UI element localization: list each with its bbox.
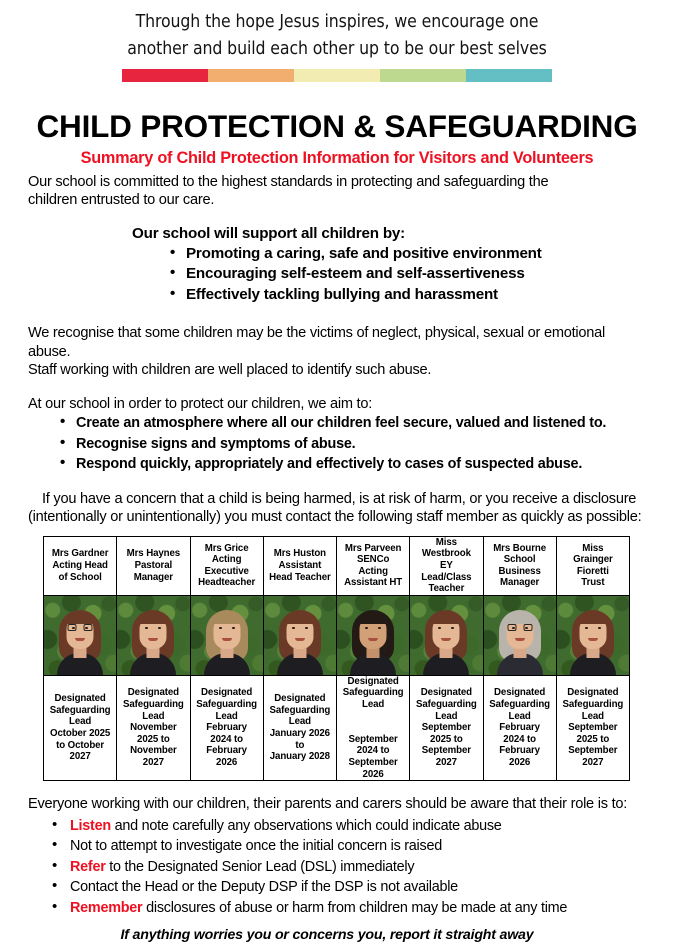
designation-line: February	[499, 745, 540, 756]
portrait-eye-left	[219, 627, 222, 629]
designation-line: September	[568, 722, 617, 733]
staff-photo-cell	[190, 595, 263, 675]
staff-portrait	[117, 596, 189, 675]
staff-name-line: Executive	[204, 566, 248, 577]
support-heading: Our school will support all children by:	[28, 224, 646, 244]
page-subtitle: Summary of Child Protection Information …	[0, 149, 674, 168]
staff-name-cell: Mrs BourneSchoolBusinessManager	[483, 536, 556, 595]
staff-name-cell: Mrs HustonAssistantHead Teacher	[263, 536, 336, 595]
designation-line: Safeguarding	[270, 705, 331, 716]
staff-designation-cell: DesignatedSafeguardingLeadSeptember2025 …	[410, 675, 483, 780]
color-bar-segment-2	[208, 69, 294, 82]
staff-name-line: EY	[440, 560, 453, 571]
portrait-mouth	[368, 638, 378, 641]
bullet-text: disclosures of abuse or harm from childr…	[142, 900, 567, 916]
designation-line: Designated	[494, 687, 545, 698]
staff-name-line: Mrs Parveen	[345, 543, 402, 554]
strapline-line-2: another and build each other up to be ou…	[0, 36, 674, 63]
concern-line-2: (intentionally or unintentionally) you m…	[28, 509, 641, 525]
spacer	[28, 380, 646, 390]
portrait-fringe	[358, 613, 389, 624]
staff-name-cell: Mrs ParveenSENCoActingAssistant HT	[337, 536, 410, 595]
staff-photo-cell	[410, 595, 483, 675]
designation-line: 2027	[436, 757, 457, 768]
spacer	[28, 305, 646, 319]
staff-name-line: Head Teacher	[269, 572, 331, 583]
designation-line: Safeguarding	[416, 699, 477, 710]
bullet-keyword: Refer	[70, 859, 106, 875]
portrait-eye-left	[292, 627, 295, 629]
designation-line: 2025 to	[577, 734, 610, 745]
staff-name-line: Acting Head	[52, 560, 107, 571]
list-item: Listen and note carefully any observatio…	[50, 816, 646, 837]
bullet-text: to the Designated Senior Lead (DSL) imme…	[106, 859, 415, 875]
glasses-icon	[507, 624, 532, 632]
designation-line: January 2028	[270, 751, 330, 762]
aims-heading: At our school in order to protect our ch…	[28, 395, 646, 414]
closing-statement: If anything worries you or concerns you,…	[28, 927, 646, 943]
staff-name-line: Westbrook	[422, 548, 471, 559]
designation-line: October 2025	[50, 728, 110, 739]
designation-line: September	[422, 745, 471, 756]
portrait-fringe	[138, 613, 169, 624]
staff-designation-cell: DesignatedSafeguardingLeadFebruary2024 t…	[190, 675, 263, 780]
staff-portrait	[484, 596, 556, 675]
staff-name-line: Teacher	[429, 583, 465, 594]
designation-line: Lead	[216, 711, 238, 722]
designation-line: 2027	[582, 757, 603, 768]
designation-line: Safeguarding	[489, 699, 550, 710]
staff-name-line: Pastoral	[135, 560, 172, 571]
staff-name-line: Miss	[582, 543, 603, 554]
table-row-names: Mrs GardnerActing Headof SchoolMrs Hayne…	[44, 536, 630, 595]
designation-line: February	[499, 722, 540, 733]
designation-line: 2026	[509, 757, 530, 768]
designation-line: Safeguarding	[50, 705, 111, 716]
staff-name-line: of School	[59, 572, 102, 583]
bullet-keyword: Listen	[70, 818, 111, 834]
designation-line: Designated	[348, 676, 399, 687]
staff-name-cell: Mrs GardnerActing Headof School	[44, 536, 117, 595]
staff-portrait	[44, 596, 116, 675]
staff-name-cell: MissGraingerFiorettiTrust	[556, 536, 629, 595]
staff-portrait	[264, 596, 336, 675]
designation-line: September	[422, 722, 471, 733]
portrait-fringe	[431, 613, 462, 624]
designation-line: 2027	[70, 751, 91, 762]
staff-name-line: Assistant	[279, 560, 322, 571]
portrait-mouth	[148, 638, 158, 641]
staff-designation-cell: DesignatedSafeguardingLeadSeptember2024 …	[337, 675, 410, 780]
table-row-photos	[44, 595, 630, 675]
staff-name-line: Mrs Gardner	[52, 548, 109, 559]
designation-line: Lead	[582, 711, 604, 722]
designation-line: 2025 to	[137, 734, 170, 745]
designation-line: 2024 to	[210, 734, 243, 745]
designation-line: Lead	[435, 711, 457, 722]
designation-line: February	[206, 745, 247, 756]
staff-name-line: Fioretti	[577, 566, 609, 577]
designation-line: Designated	[55, 693, 106, 704]
designation-line: November	[130, 745, 177, 756]
staff-name-line: Grainger	[573, 554, 613, 565]
staff-name-line: Manager	[134, 572, 173, 583]
document-body: Our school is committed to the highest s…	[0, 173, 674, 527]
designation-line: 2024 to	[503, 734, 536, 745]
designation-line: Safeguarding	[563, 699, 624, 710]
designation-line: 2026	[363, 769, 384, 780]
staff-name-line: Acting	[212, 554, 242, 565]
staff-table-container: Mrs GardnerActing Headof SchoolMrs Hayne…	[0, 536, 674, 781]
designation-line: September	[568, 745, 617, 756]
portrait-eye-right	[598, 627, 601, 629]
staff-photo-cell	[337, 595, 410, 675]
list-item: Create an atmosphere where all our child…	[58, 413, 646, 434]
intro-line-1: Our school is committed to the highest s…	[28, 174, 548, 190]
portrait-eye-left	[585, 627, 588, 629]
portrait-mouth	[515, 638, 525, 641]
designation-line: Designated	[421, 687, 472, 698]
color-bar-segment-5	[466, 69, 552, 82]
staff-designation-cell: DesignatedSafeguardingLeadJanuary 2026to…	[263, 675, 336, 780]
designation-line: Safeguarding	[196, 699, 257, 710]
list-item: Promoting a caring, safe and positive en…	[168, 244, 646, 265]
bullet-keyword: Remember	[70, 900, 142, 916]
list-item: Not to attempt to investigate once the i…	[50, 836, 646, 857]
staff-name-line: Lead/Class	[421, 572, 471, 583]
role-bullet-list: Listen and note carefully any observatio…	[50, 816, 646, 919]
staff-name-line: Headteacher	[198, 577, 255, 588]
designation-line: 2026	[216, 757, 237, 768]
designation-line: 2025 to	[430, 734, 463, 745]
staff-name-line: Manager	[500, 577, 539, 588]
staff-name-line: Mrs Bourne	[493, 543, 546, 554]
portrait-eye-right	[305, 627, 308, 629]
role-section-heading: Everyone working with our children, thei…	[28, 795, 646, 814]
designated-safeguarding-leads-table: Mrs GardnerActing Headof SchoolMrs Hayne…	[43, 536, 630, 781]
list-item: Effectively tackling bullying and harass…	[168, 285, 646, 306]
designation-line: September	[349, 734, 398, 745]
staff-name-cell: Mrs HaynesPastoralManager	[117, 536, 190, 595]
staff-name-line: Mrs Huston	[274, 548, 326, 559]
designation-line: Lead	[509, 711, 531, 722]
portrait-eye-right	[378, 627, 381, 629]
role-section: Everyone working with our children, thei…	[0, 795, 674, 943]
color-bar	[122, 69, 552, 82]
strapline-line-1: Through the hope Jesus inspires, we enco…	[0, 9, 674, 36]
portrait-fringe	[577, 613, 608, 624]
staff-name-line: Business	[498, 566, 540, 577]
color-bar-segment-3	[294, 69, 380, 82]
staff-name-line: Acting	[358, 566, 388, 577]
spacer	[28, 210, 646, 224]
bullet-text: Not to attempt to investigate once the i…	[70, 838, 442, 854]
staff-name-line: School	[504, 554, 536, 565]
color-bar-segment-1	[122, 69, 208, 82]
portrait-mouth	[75, 638, 85, 641]
list-item: Remember disclosures of abuse or harm fr…	[50, 898, 646, 919]
portrait-fringe	[211, 613, 242, 624]
designation-line: Safeguarding	[343, 687, 404, 698]
designation-line: Designated	[567, 687, 618, 698]
page-title: CHILD PROTECTION & SAFEGUARDING	[0, 110, 674, 143]
glasses-icon	[68, 624, 93, 632]
staff-photo-cell	[263, 595, 336, 675]
portrait-mouth	[222, 638, 232, 641]
staff-designation-cell: DesignatedSafeguardingLeadNovember2025 t…	[117, 675, 190, 780]
designation-line: September	[349, 757, 398, 768]
list-item: Contact the Head or the Deputy DSP if th…	[50, 877, 646, 898]
concern-paragraph: If you have a concern that a child is be…	[28, 490, 646, 527]
intro-paragraph: Our school is committed to the highest s…	[28, 173, 646, 210]
designation-line: November	[130, 722, 177, 733]
support-bullet-list: Promoting a caring, safe and positive en…	[168, 244, 646, 306]
bullet-text: and note carefully any observations whic…	[111, 818, 502, 834]
bullet-text: Contact the Head or the Deputy DSP if th…	[70, 879, 458, 895]
school-vision-strapline: Through the hope Jesus inspires, we enco…	[0, 0, 674, 82]
staff-portrait	[557, 596, 629, 675]
designation-line: Lead	[289, 716, 311, 727]
designation-line: Designated	[201, 687, 252, 698]
staff-name-line: Trust	[581, 577, 604, 588]
list-item: Encouraging self-esteem and self-asserti…	[168, 264, 646, 285]
designation-blank-line	[337, 711, 409, 723]
staff-name-line: Mrs Grice	[205, 543, 249, 554]
staff-name-line: SENCo	[357, 554, 389, 565]
designation-line: 2027	[143, 757, 164, 768]
portrait-eye-left	[365, 627, 368, 629]
designation-line: Lead	[362, 699, 384, 710]
portrait-mouth	[588, 638, 598, 641]
portrait-fringe	[504, 613, 535, 624]
designation-line: Designated	[128, 687, 179, 698]
document-page: Through the hope Jesus inspires, we enco…	[0, 0, 674, 897]
staff-portrait	[410, 596, 482, 675]
designation-line: Safeguarding	[123, 699, 184, 710]
staff-name-line: Assistant HT	[344, 577, 402, 588]
recognise-line-2: Staff working with children are well pla…	[28, 362, 431, 378]
designation-line: Lead	[69, 716, 91, 727]
color-bar-segment-4	[380, 69, 466, 82]
concern-line-1: If you have a concern that a child is be…	[42, 491, 636, 507]
staff-designation-cell: DesignatedSafeguardingLeadSeptember2025 …	[556, 675, 629, 780]
staff-photo-cell	[483, 595, 556, 675]
spacer	[28, 475, 646, 485]
staff-name-line: Miss	[436, 537, 457, 548]
staff-photo-cell	[117, 595, 190, 675]
portrait-fringe	[65, 613, 96, 624]
staff-portrait	[191, 596, 263, 675]
designation-line: to October	[56, 740, 104, 751]
staff-designation-cell: DesignatedSafeguardingLeadOctober 2025to…	[44, 675, 117, 780]
portrait-mouth	[441, 638, 451, 641]
list-item: Refer to the Designated Senior Lead (DSL…	[50, 857, 646, 878]
table-row-designations: DesignatedSafeguardingLeadOctober 2025to…	[44, 675, 630, 780]
staff-designation-cell: DesignatedSafeguardingLeadFebruary2024 t…	[483, 675, 556, 780]
designation-line: to	[295, 740, 304, 751]
staff-portrait	[337, 596, 409, 675]
staff-photo-cell	[556, 595, 629, 675]
designation-line: 2024 to	[357, 745, 390, 756]
list-item: Respond quickly, appropriately and effec…	[58, 454, 646, 475]
staff-photo-cell	[44, 595, 117, 675]
recognise-line-1: We recognise that some children may be t…	[28, 325, 605, 360]
designation-line: Lead	[142, 711, 164, 722]
staff-name-line: Mrs Haynes	[127, 548, 180, 559]
intro-line-2: children entrusted to our care.	[28, 192, 214, 208]
portrait-mouth	[295, 638, 305, 641]
staff-name-cell: MissWestbrookEYLead/ClassTeacher	[410, 536, 483, 595]
designation-line: February	[206, 722, 247, 733]
recognise-paragraph: We recognise that some children may be t…	[28, 324, 646, 380]
portrait-eye-right	[232, 627, 235, 629]
portrait-fringe	[284, 613, 315, 624]
aims-bullet-list: Create an atmosphere where all our child…	[58, 413, 646, 475]
designation-line: January 2026	[270, 728, 330, 739]
designation-line: Designated	[274, 693, 325, 704]
staff-name-cell: Mrs GriceActingExecutiveHeadteacher	[190, 536, 263, 595]
list-item: Recognise signs and symptoms of abuse.	[58, 434, 646, 455]
